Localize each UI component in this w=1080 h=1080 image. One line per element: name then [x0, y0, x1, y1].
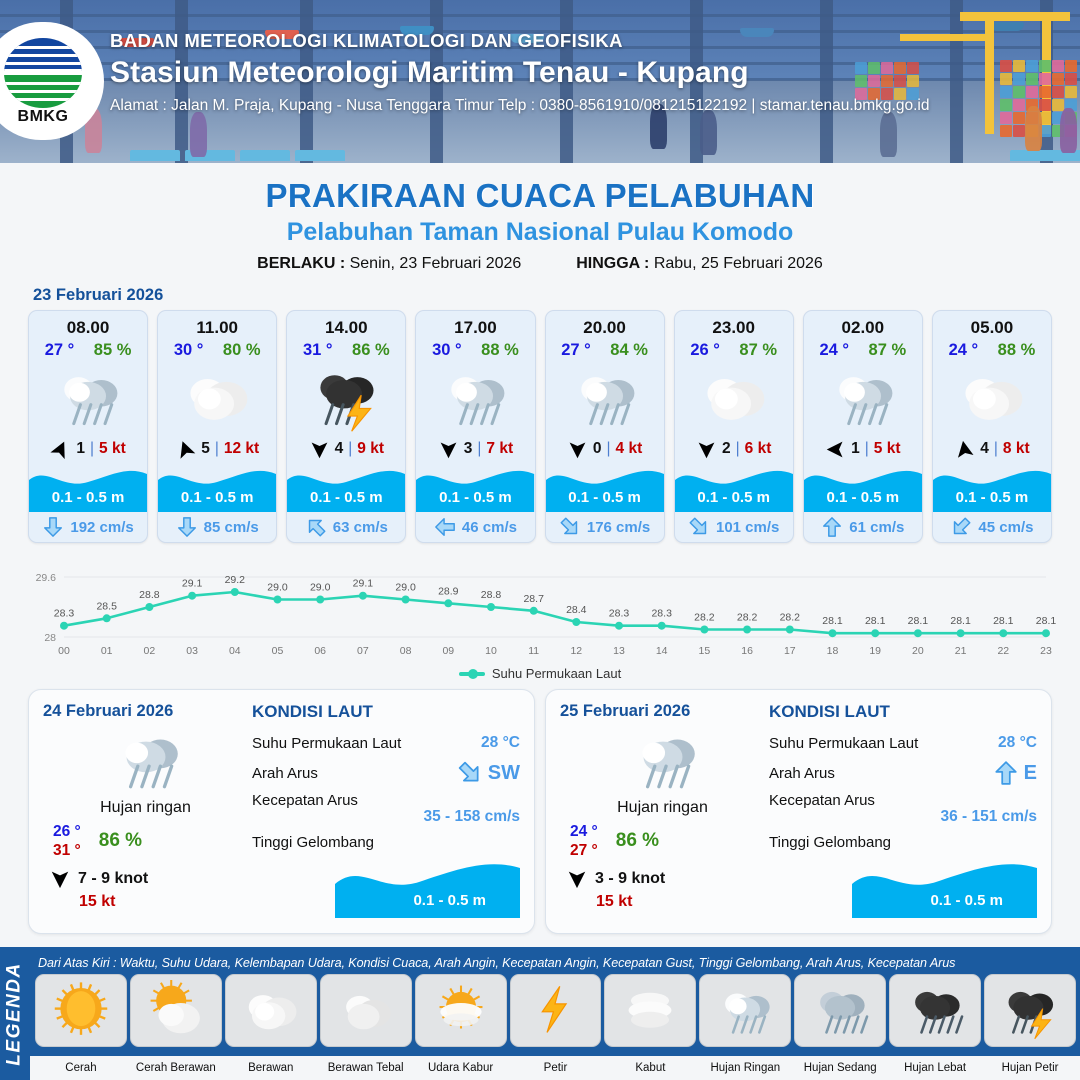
svg-text:21: 21: [955, 645, 967, 657]
wind-direction-arrow-icon: [172, 436, 199, 463]
sst-chart-legend: Suhu Permukaan Laut: [0, 666, 1080, 681]
svg-text:29.0: 29.0: [395, 582, 416, 594]
svg-text:28.8: 28.8: [139, 589, 160, 601]
weather-icon-berawan: [240, 980, 302, 1042]
svg-text:20: 20: [912, 645, 924, 657]
card-wind-direction: 5: [201, 440, 210, 458]
legend-item: [320, 974, 412, 1047]
legend-item: [889, 974, 981, 1047]
card-wind-speed: 9 kt: [357, 440, 384, 458]
card-humidity: 88 %: [481, 341, 519, 360]
card-wind-speed: 5 kt: [99, 440, 126, 458]
valid-until-label: HINGGA :: [576, 255, 649, 272]
svg-text:00: 00: [58, 645, 70, 657]
current-direction-arrow-icon: [300, 511, 331, 542]
weather-icon-cerah: [50, 980, 112, 1042]
daily-humidity: 86 %: [616, 830, 659, 852]
sea-wave-row: Tinggi Gelombang: [769, 830, 1037, 854]
hourly-card: 14.00 31 ° 86 % 4 | 9 kt 0.1 -: [286, 310, 406, 543]
daily-wind-range: 7 - 9 knot: [78, 870, 148, 888]
card-time: 05.00: [933, 318, 1051, 338]
legend-icon-tile: [130, 974, 222, 1047]
weather-icon-udara-kabur: [430, 980, 492, 1042]
hourly-card: 20.00 27 ° 84 % 0 | 4 kt 0.1 -: [545, 310, 665, 543]
daily-wind: 3 - 9 knot: [560, 868, 765, 890]
weather-icon-hujan-ringan: [623, 719, 703, 799]
weather-icon-hujan-petir: [999, 980, 1061, 1042]
legend-side-title: LEGENDA: [0, 947, 30, 1080]
hourly-card: 05.00 24 ° 88 % 4 | 8 kt 0.1 - 0.5 m: [932, 310, 1052, 543]
legend-item-label: Cerah Berawan: [130, 1062, 222, 1074]
card-wave-height: 0.1 - 0.5 m: [804, 489, 922, 506]
card-wind-separator: |: [90, 440, 94, 458]
svg-text:18: 18: [827, 645, 839, 657]
daily-weather-icon: [43, 723, 248, 795]
svg-text:29.1: 29.1: [182, 578, 203, 590]
card-wind-direction: 4: [335, 440, 344, 458]
sea-wave-value: 0.1 - 0.5 m: [930, 892, 1003, 909]
legend-item: [699, 974, 791, 1047]
svg-text:28.3: 28.3: [54, 608, 75, 620]
valid-from-label: BERLAKU :: [257, 255, 345, 272]
card-weather-icon: [804, 360, 922, 436]
legend-item: [130, 974, 222, 1047]
page-header: BMKG BADAN METEOROLOGI KLIMATOLOGI DAN G…: [0, 0, 1080, 163]
svg-text:13: 13: [613, 645, 625, 657]
sea-sst-value: 28 °C: [481, 734, 520, 752]
sea-current-speed-label: Kecepatan Arus: [769, 792, 875, 809]
wind-direction-arrow-icon: [953, 437, 977, 461]
legend-item-label: Cerah: [35, 1062, 127, 1074]
legend-item-label: Hujan Lebat: [889, 1062, 981, 1074]
weather-icon-hujan-sedang: [809, 980, 871, 1042]
card-time: 23.00: [675, 318, 793, 338]
svg-text:29.0: 29.0: [267, 582, 288, 594]
legend-icon-tile: [794, 974, 886, 1047]
legend-item: [984, 974, 1076, 1047]
svg-text:15: 15: [699, 645, 711, 657]
agency-name: BADAN METEOROLOGI KLIMATOLOGI DAN GEOFIS…: [110, 30, 929, 52]
card-current: 101 cm/s: [675, 512, 793, 542]
valid-until-value: Rabu, 25 Februari 2026: [654, 255, 823, 272]
weather-icon-berawan-tebal: [335, 980, 397, 1042]
hourly-forecast-row: 08.00 27 ° 85 % 1 | 5 kt 0.1 -: [0, 310, 1080, 543]
card-temperature: 24 °: [819, 341, 849, 360]
card-current: 176 cm/s: [546, 512, 664, 542]
legend-section: LEGENDA Dari Atas Kiri : Waktu, Suhu Uda…: [0, 947, 1080, 1080]
sea-current-dir-row: Arah Arus E: [769, 758, 1037, 788]
card-time: 11.00: [158, 318, 276, 338]
card-weather-icon: [546, 360, 664, 436]
svg-text:28.2: 28.2: [694, 612, 715, 624]
svg-text:28.1: 28.1: [1036, 615, 1057, 627]
svg-text:04: 04: [229, 645, 241, 657]
card-wave: 0.1 - 0.5 m: [416, 464, 534, 512]
current-direction-arrow-icon: [434, 516, 456, 538]
weather-icon-cerah-berawan: [145, 980, 207, 1042]
daily-gust: 15 kt: [560, 893, 765, 911]
card-wave-height: 0.1 - 0.5 m: [675, 489, 793, 506]
current-direction-arrow-icon: [451, 755, 488, 792]
card-humidity: 85 %: [94, 341, 132, 360]
svg-text:28: 28: [44, 632, 56, 644]
legend-description: Dari Atas Kiri : Waktu, Suhu Udara, Kele…: [30, 947, 1080, 970]
card-humidity: 87 %: [739, 341, 777, 360]
weather-icon-hujan-ringan: [106, 719, 186, 799]
card-humidity: 87 %: [869, 341, 907, 360]
wind-direction-arrow-icon: [309, 439, 330, 460]
legend-icon-tile: [320, 974, 412, 1047]
legend-icon-tile: [699, 974, 791, 1047]
current-direction-arrow-icon: [946, 511, 977, 542]
daily-condition: Hujan ringan: [560, 799, 765, 817]
wind-direction-arrow-icon: [566, 868, 588, 890]
hourly-date: 23 Februari 2026: [33, 286, 1080, 305]
hourly-card: 08.00 27 ° 85 % 1 | 5 kt 0.1 -: [28, 310, 148, 543]
wind-direction-arrow-icon: [825, 439, 846, 460]
weather-icon-hujan-ringan: [714, 980, 776, 1042]
card-wave-height: 0.1 - 0.5 m: [933, 489, 1051, 506]
weather-icon-hujan-ringan: [438, 361, 512, 435]
card-humidity: 86 %: [352, 341, 390, 360]
svg-text:28.1: 28.1: [865, 615, 886, 627]
sea-sst-label: Suhu Permukaan Laut: [252, 735, 401, 752]
card-temperature: 24 °: [949, 341, 979, 360]
card-time: 08.00: [29, 318, 147, 338]
svg-text:08: 08: [400, 645, 412, 657]
svg-text:23: 23: [1040, 645, 1052, 657]
svg-text:02: 02: [144, 645, 156, 657]
daily-temp-min: 24 °: [570, 822, 598, 841]
legend-item: [794, 974, 886, 1047]
current-direction-arrow-icon: [554, 511, 585, 542]
wave-shape-icon: [852, 858, 1037, 918]
sea-wave-value: 0.1 - 0.5 m: [413, 892, 486, 909]
card-wind-direction: 1: [851, 440, 860, 458]
legend-icon-tile: [35, 974, 127, 1047]
daily-wind: 7 - 9 knot: [43, 868, 248, 890]
wind-direction-arrow-icon: [696, 439, 717, 460]
weather-icon-hujan-ringan: [568, 361, 642, 435]
card-wind: 1 | 5 kt: [804, 436, 922, 462]
legend-icon-tile: [225, 974, 317, 1047]
card-wind: 2 | 6 kt: [675, 436, 793, 462]
svg-text:29.1: 29.1: [353, 578, 374, 590]
card-wind-speed: 7 kt: [486, 440, 513, 458]
card-temperature: 30 °: [432, 341, 462, 360]
sea-sst-row: Suhu Permukaan Laut 28 °C: [769, 728, 1037, 758]
current-direction-arrow-icon: [42, 516, 64, 538]
legend-item: [225, 974, 317, 1047]
card-wind-direction: 1: [76, 440, 85, 458]
legend-item-label: Petir: [510, 1062, 602, 1074]
sea-current-dir-value: E: [993, 760, 1037, 786]
card-wave: 0.1 - 0.5 m: [675, 464, 793, 512]
sea-wave-label: Tinggi Gelombang: [252, 834, 374, 851]
svg-text:05: 05: [272, 645, 284, 657]
card-wave: 0.1 - 0.5 m: [287, 464, 405, 512]
card-current: 63 cm/s: [287, 512, 405, 542]
svg-text:09: 09: [442, 645, 454, 657]
card-wind-separator: |: [348, 440, 352, 458]
sea-condition-title: KONDISI LAUT: [252, 702, 520, 722]
card-wind-separator: |: [865, 440, 869, 458]
hourly-card: 11.00 30 ° 80 % 5 | 12 kt 0.1 - 0.5 m: [157, 310, 277, 543]
card-time: 14.00: [287, 318, 405, 338]
weather-icon-hujan-lebat: [904, 980, 966, 1042]
svg-text:03: 03: [186, 645, 198, 657]
card-wind-direction: 0: [593, 440, 602, 458]
svg-text:11: 11: [528, 645, 539, 657]
card-wind-speed: 6 kt: [745, 440, 772, 458]
wave-shape-icon: [335, 858, 520, 918]
card-current: 85 cm/s: [158, 512, 276, 542]
svg-text:28.5: 28.5: [96, 600, 117, 612]
legend-item: [510, 974, 602, 1047]
card-wind-separator: |: [477, 440, 481, 458]
card-wind-separator: |: [994, 440, 998, 458]
card-wind-direction: 3: [464, 440, 473, 458]
legend-icon-tile: [415, 974, 507, 1047]
card-current: 61 cm/s: [804, 512, 922, 542]
card-time: 20.00: [546, 318, 664, 338]
svg-text:28.1: 28.1: [822, 615, 843, 627]
card-wave: 0.1 - 0.5 m: [29, 464, 147, 512]
card-current-speed: 176 cm/s: [587, 519, 650, 536]
page-title: PRAKIRAAN CUACA PELABUHAN: [0, 177, 1080, 215]
legend-item: [415, 974, 507, 1047]
legend-labels-row: CerahCerah BerawanBerawanBerawan TebalUd…: [30, 1056, 1080, 1080]
daily-temp-min: 26 °: [53, 822, 81, 841]
card-wind: 1 | 5 kt: [29, 436, 147, 462]
svg-text:19: 19: [869, 645, 881, 657]
page-subtitle: Pelabuhan Taman Nasional Pulau Komodo: [0, 218, 1080, 247]
card-wave-height: 0.1 - 0.5 m: [546, 489, 664, 506]
legend-item-label: Kabut: [604, 1062, 696, 1074]
card-time: 02.00: [804, 318, 922, 338]
svg-text:28.7: 28.7: [523, 593, 544, 605]
weather-icon-berawan: [180, 361, 254, 435]
card-wind-speed: 8 kt: [1003, 440, 1030, 458]
weather-icon-petir: [524, 980, 586, 1042]
svg-text:28.1: 28.1: [950, 615, 971, 627]
sea-wave-row: Tinggi Gelombang: [252, 830, 520, 854]
card-temperature: 27 °: [45, 341, 75, 360]
card-wind-speed: 5 kt: [874, 440, 901, 458]
weather-icon-hujan-petir: [309, 361, 383, 435]
card-current: 45 cm/s: [933, 512, 1051, 542]
sea-current-speed-value: 35 - 158 cm/s: [252, 808, 520, 826]
card-wind-direction: 4: [980, 440, 989, 458]
svg-text:10: 10: [485, 645, 497, 657]
card-current-speed: 85 cm/s: [204, 519, 259, 536]
legend-item: [35, 974, 127, 1047]
wind-direction-arrow-icon: [438, 439, 459, 460]
card-current-speed: 61 cm/s: [849, 519, 904, 536]
card-wind-speed: 4 kt: [616, 440, 643, 458]
svg-text:22: 22: [997, 645, 1009, 657]
card-wave: 0.1 - 0.5 m: [158, 464, 276, 512]
sea-current-speed-value: 36 - 151 cm/s: [769, 808, 1037, 826]
card-wind: 4 | 8 kt: [933, 436, 1051, 462]
svg-text:29.0: 29.0: [310, 582, 331, 594]
card-time: 17.00: [416, 318, 534, 338]
card-wave: 0.1 - 0.5 m: [933, 464, 1051, 512]
weather-icon-hujan-ringan: [826, 361, 900, 435]
card-weather-icon: [675, 360, 793, 436]
daily-condition: Hujan ringan: [43, 799, 248, 817]
sea-current-dir-label: Arah Arus: [252, 765, 318, 782]
svg-text:12: 12: [570, 645, 582, 657]
card-temperature: 31 °: [303, 341, 333, 360]
title-block: PRAKIRAAN CUACA PELABUHAN Pelabuhan Tama…: [0, 163, 1080, 273]
card-humidity: 88 %: [998, 341, 1036, 360]
sea-wave-label: Tinggi Gelombang: [769, 834, 891, 851]
card-wind-direction: 2: [722, 440, 731, 458]
daily-humidity: 86 %: [99, 830, 142, 852]
sea-condition-title: KONDISI LAUT: [769, 702, 1037, 722]
card-wind: 5 | 12 kt: [158, 436, 276, 462]
valid-from-value: Senin, 23 Februari 2026: [350, 255, 522, 272]
sea-wave-block: 0.1 - 0.5 m: [769, 854, 1037, 918]
daily-temp-max: 27 °: [570, 841, 598, 860]
card-weather-icon: [29, 360, 147, 436]
card-humidity: 84 %: [610, 341, 648, 360]
sea-current-dir-label: Arah Arus: [769, 765, 835, 782]
sea-current-dir-value: SW: [457, 760, 520, 786]
sea-current-dir-row: Arah Arus SW: [252, 758, 520, 788]
card-temperature: 30 °: [174, 341, 204, 360]
svg-text:28.3: 28.3: [651, 608, 672, 620]
legend-icon-tile: [604, 974, 696, 1047]
daily-forecast-card: 25 Februari 2026 Hujan ringan 24 ° 27 ° …: [545, 689, 1052, 934]
validity-range: BERLAKU : Senin, 23 Februari 2026 HINGGA…: [0, 255, 1080, 273]
card-current-speed: 46 cm/s: [462, 519, 517, 536]
wind-direction-arrow-icon: [49, 868, 71, 890]
current-direction-arrow-icon: [821, 516, 843, 538]
card-temperature: 26 °: [690, 341, 720, 360]
weather-icon-kabut: [619, 980, 681, 1042]
hourly-card: 23.00 26 ° 87 % 2 | 6 kt 0.1 - 0.5 m: [674, 310, 794, 543]
hourly-card: 02.00 24 ° 87 % 1 | 5 kt 0.1 -: [803, 310, 923, 543]
daily-gust: 15 kt: [43, 893, 248, 911]
card-wind: 3 | 7 kt: [416, 436, 534, 462]
legend-item-label: Berawan: [225, 1062, 317, 1074]
card-wind-speed: 12 kt: [224, 440, 259, 458]
svg-text:28.9: 28.9: [438, 585, 459, 597]
station-name: Stasiun Meteorologi Maritim Tenau - Kupa…: [110, 56, 929, 90]
daily-weather-icon: [560, 723, 765, 795]
weather-icon-berawan: [955, 361, 1029, 435]
card-current: 192 cm/s: [29, 512, 147, 542]
card-current-speed: 63 cm/s: [333, 519, 388, 536]
weather-icon-berawan: [697, 361, 771, 435]
daily-wind-range: 3 - 9 knot: [595, 870, 665, 888]
daily-forecast-card: 24 Februari 2026 Hujan ringan 26 ° 31 ° …: [28, 689, 535, 934]
card-wind-separator: |: [736, 440, 740, 458]
legend-item-label: Hujan Petir: [984, 1062, 1076, 1074]
card-wave-height: 0.1 - 0.5 m: [287, 489, 405, 506]
current-direction-arrow-icon: [993, 760, 1019, 786]
svg-text:28.4: 28.4: [566, 604, 587, 616]
card-humidity: 80 %: [223, 341, 261, 360]
sea-sst-label: Suhu Permukaan Laut: [769, 735, 918, 752]
legend-item-label: Hujan Ringan: [699, 1062, 791, 1074]
wind-direction-arrow-icon: [47, 435, 75, 463]
svg-text:16: 16: [741, 645, 753, 657]
bmkg-logo-text: BMKG: [4, 108, 82, 126]
current-direction-arrow-icon: [176, 516, 198, 538]
svg-text:28.3: 28.3: [609, 608, 630, 620]
legend-icon-tile: [984, 974, 1076, 1047]
svg-text:14: 14: [656, 645, 668, 657]
card-weather-icon: [416, 360, 534, 436]
svg-text:29.2: 29.2: [225, 574, 246, 586]
card-wind-separator: |: [607, 440, 611, 458]
card-weather-icon: [933, 360, 1051, 436]
card-wave-height: 0.1 - 0.5 m: [416, 489, 534, 506]
card-wind-separator: |: [215, 440, 219, 458]
card-current-speed: 45 cm/s: [978, 519, 1033, 536]
weather-icon-hujan-ringan: [51, 361, 125, 435]
svg-text:07: 07: [357, 645, 369, 657]
card-wave-height: 0.1 - 0.5 m: [29, 489, 147, 506]
legend-icon-tile: [510, 974, 602, 1047]
svg-text:17: 17: [784, 645, 796, 657]
svg-text:28.8: 28.8: [481, 589, 502, 601]
card-wind: 4 | 9 kt: [287, 436, 405, 462]
legend-item-label: Udara Kabur: [415, 1062, 507, 1074]
sst-chart: 29.6 28 28.328.528.829.129.229.029.029.1…: [20, 555, 1060, 665]
svg-text:28.1: 28.1: [993, 615, 1014, 627]
card-temperature: 27 °: [561, 341, 591, 360]
current-direction-arrow-icon: [683, 511, 714, 542]
sea-sst-row: Suhu Permukaan Laut 28 °C: [252, 728, 520, 758]
daily-forecast-row: 24 Februari 2026 Hujan ringan 26 ° 31 ° …: [0, 681, 1080, 934]
sea-current-speed-label: Kecepatan Arus: [252, 792, 358, 809]
card-current-speed: 101 cm/s: [716, 519, 779, 536]
station-address: Alamat : Jalan M. Praja, Kupang - Nusa T…: [110, 97, 929, 115]
card-wind: 0 | 4 kt: [546, 436, 664, 462]
svg-text:01: 01: [101, 645, 113, 657]
svg-text:29.6: 29.6: [36, 572, 57, 584]
hourly-card: 17.00 30 ° 88 % 3 | 7 kt 0.1 -: [415, 310, 535, 543]
legend-icon-tile: [889, 974, 981, 1047]
legend-item-label: Hujan Sedang: [794, 1062, 886, 1074]
daily-temp-max: 31 °: [53, 841, 81, 860]
svg-text:28.2: 28.2: [737, 612, 758, 624]
card-weather-icon: [158, 360, 276, 436]
card-wave: 0.1 - 0.5 m: [546, 464, 664, 512]
card-weather-icon: [287, 360, 405, 436]
sst-legend-label: Suhu Permukaan Laut: [492, 666, 621, 681]
svg-text:28.1: 28.1: [908, 615, 929, 627]
legend-item-label: Berawan Tebal: [320, 1062, 412, 1074]
svg-text:06: 06: [314, 645, 326, 657]
card-current: 46 cm/s: [416, 512, 534, 542]
line-marker-icon: [459, 672, 485, 676]
svg-text:28.2: 28.2: [780, 612, 801, 624]
wind-direction-arrow-icon: [567, 439, 588, 460]
sst-line-chart: 29.6 28 28.328.528.829.129.229.029.029.1…: [20, 555, 1060, 663]
sea-sst-value: 28 °C: [998, 734, 1037, 752]
legend-item: [604, 974, 696, 1047]
card-current-speed: 192 cm/s: [70, 519, 133, 536]
card-wave: 0.1 - 0.5 m: [804, 464, 922, 512]
sea-wave-block: 0.1 - 0.5 m: [252, 854, 520, 918]
card-wave-height: 0.1 - 0.5 m: [158, 489, 276, 506]
